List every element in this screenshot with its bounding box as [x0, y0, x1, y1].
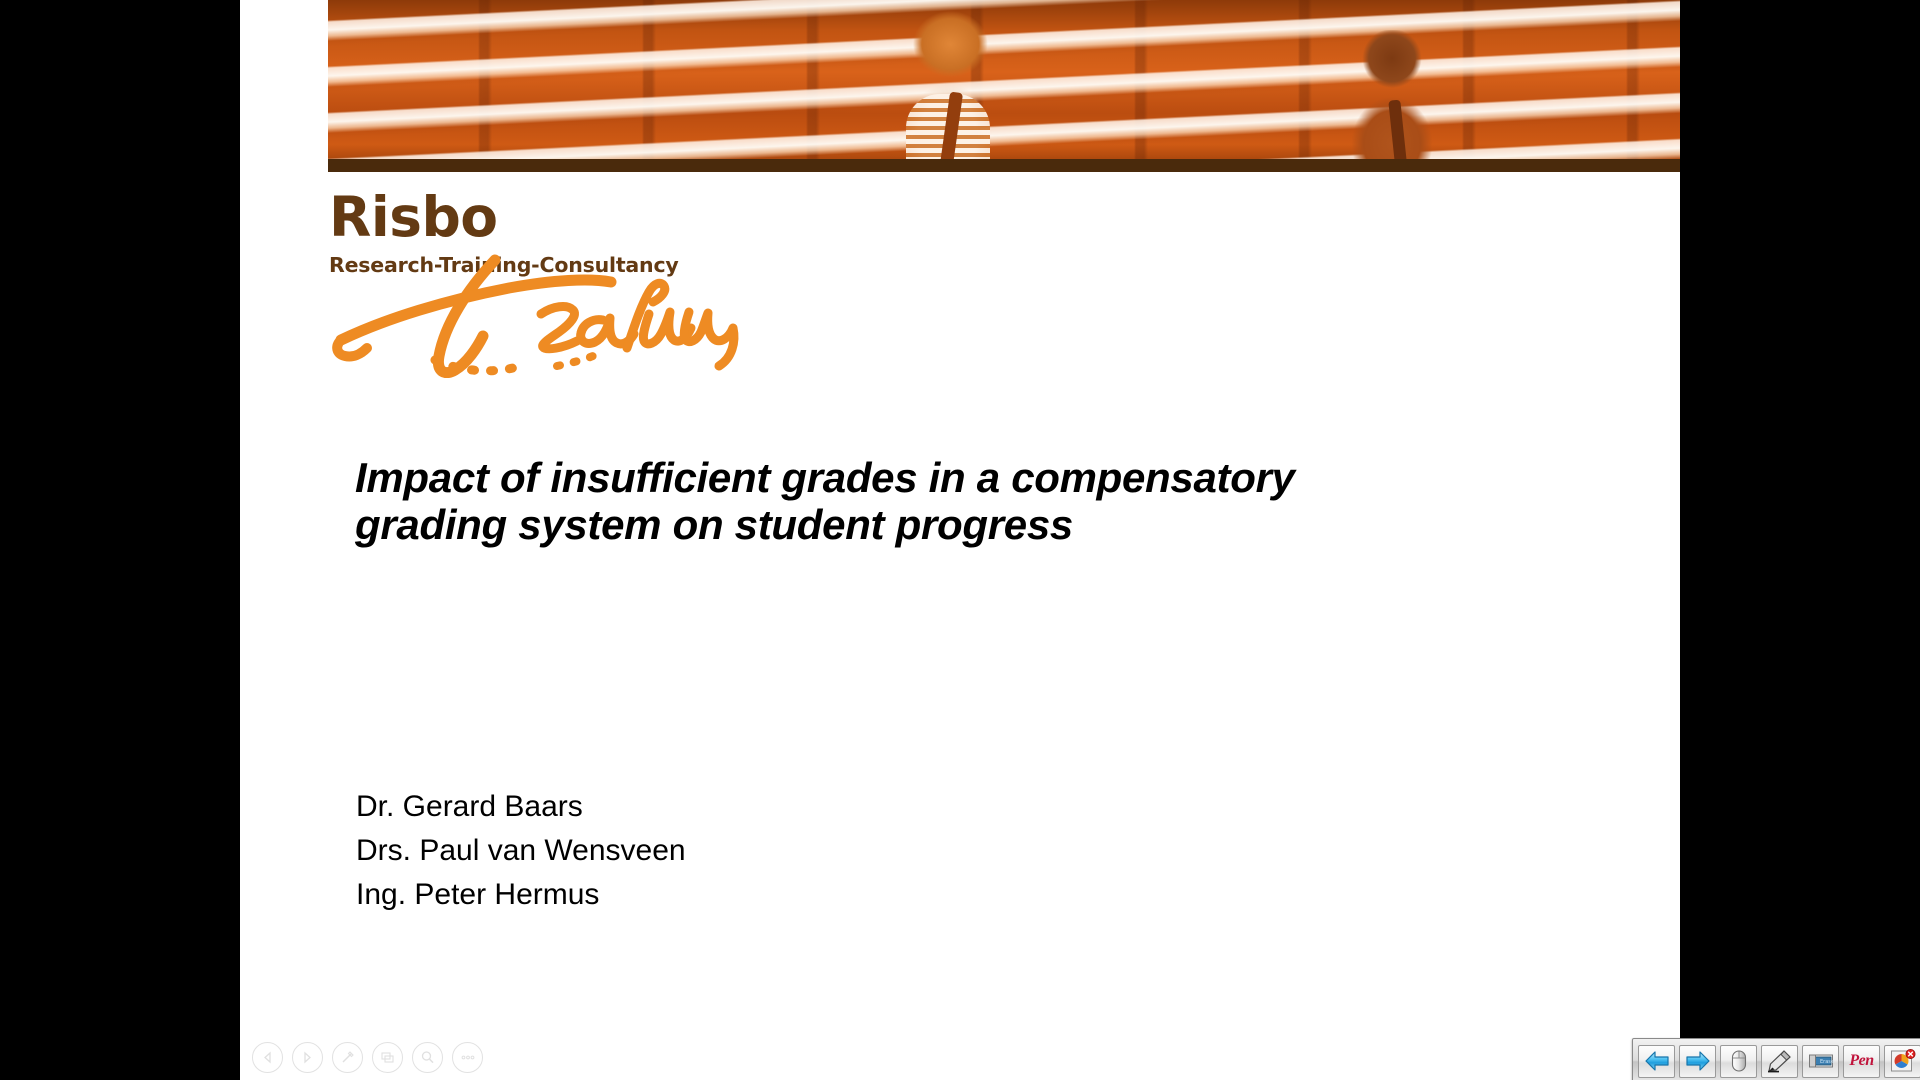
slide-overview-button[interactable]: [372, 1042, 403, 1073]
ellipsis-icon: [460, 1054, 476, 1061]
triangle-right-icon: [301, 1051, 314, 1064]
slide-canvas: Risbo Research-Training-Consultancy: [240, 0, 1680, 1080]
pen-icon: [340, 1050, 355, 1065]
end-show-button[interactable]: [1884, 1045, 1920, 1078]
risbo-logo: Risbo Research-Training-Consultancy: [329, 190, 799, 380]
pencil-button[interactable]: [1761, 1045, 1798, 1078]
slideshow-ghost-controls: [252, 1042, 483, 1073]
slide-header-image: [328, 0, 1680, 172]
logo-tagline: Research-Training-Consultancy: [329, 253, 799, 277]
author-name: Ing. Peter Hermus: [356, 873, 686, 917]
more-options-button[interactable]: [452, 1042, 483, 1073]
back-button[interactable]: [1638, 1045, 1675, 1078]
presentation-viewer: Risbo Research-Training-Consultancy: [0, 0, 1920, 1080]
slides-icon: [380, 1050, 396, 1066]
pen-options-button[interactable]: Pen: [1843, 1045, 1880, 1078]
eraser-icon: Eraser: [1808, 1051, 1834, 1071]
author-name: Drs. Paul van Wensveen: [356, 829, 686, 873]
logo-wordmark: Risbo: [329, 190, 799, 245]
previous-slide-button[interactable]: [252, 1042, 283, 1073]
student-figure-right: [1340, 30, 1444, 172]
zoom-tool-button[interactable]: [412, 1042, 443, 1073]
author-list: Dr. Gerard Baars Drs. Paul van Wensveen …: [356, 785, 686, 917]
pencil-icon: [1767, 1049, 1793, 1073]
forward-button[interactable]: [1679, 1045, 1716, 1078]
pointer-button[interactable]: [1720, 1045, 1757, 1078]
pie-chart-close-icon: [1890, 1049, 1916, 1073]
slideshow-nav-toolbar: Eraser Pen: [1632, 1038, 1920, 1080]
pen-tool-button[interactable]: [332, 1042, 363, 1073]
triangle-left-icon: [261, 1051, 274, 1064]
student-figure-left: [888, 8, 1008, 172]
svg-text:Eraser: Eraser: [1820, 1059, 1834, 1065]
slide-title: Impact of insufficient grades in a compe…: [355, 454, 1515, 548]
arrow-left-icon: [1644, 1050, 1670, 1072]
slide-title-line-1: Impact of insufficient grades in a compe…: [355, 454, 1515, 501]
pen-text-icon: Pen: [1849, 1052, 1873, 1070]
header-bottom-band: [328, 159, 1680, 172]
magnifier-icon: [420, 1050, 435, 1065]
author-name: Dr. Gerard Baars: [356, 785, 686, 829]
eraser-button[interactable]: Eraser: [1802, 1045, 1839, 1078]
next-slide-button[interactable]: [292, 1042, 323, 1073]
arrow-right-icon: [1685, 1050, 1711, 1072]
slide-title-line-2: grading system on student progress: [355, 501, 1515, 548]
mouse-icon: [1730, 1049, 1748, 1073]
